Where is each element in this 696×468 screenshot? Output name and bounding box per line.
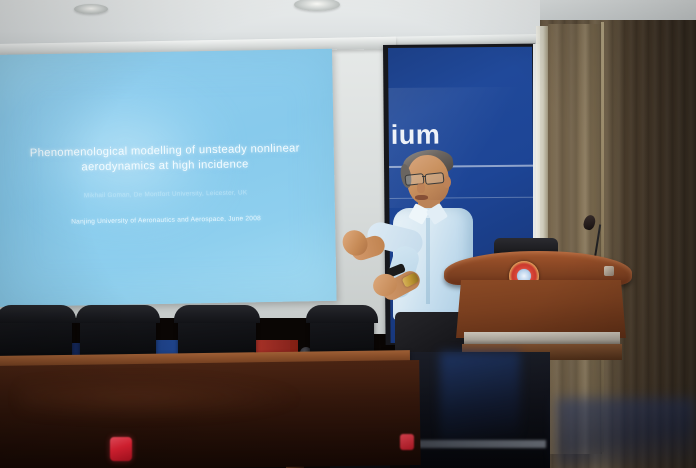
wood-panel-seam	[601, 22, 604, 452]
chair-rim	[306, 305, 378, 323]
slide-author: Mikhail Goman, De Montfort University, L…	[5, 188, 327, 201]
slide-title-line-1: Phenomenological modelling of unsteady n…	[30, 142, 300, 159]
slide-title: Phenomenological modelling of unsteady n…	[4, 141, 326, 176]
presentation-photo: Phenomenological modelling of unsteady n…	[0, 0, 696, 468]
podium-body	[456, 280, 626, 338]
red-bottle-cap	[110, 437, 132, 461]
chair-rim	[76, 305, 160, 323]
glasses-icon	[405, 174, 449, 183]
table-sheen	[20, 378, 300, 418]
chair-rim	[174, 305, 260, 323]
chair	[0, 306, 72, 362]
foreground-blue-reflection-right	[556, 398, 696, 468]
shirt-placket	[426, 218, 430, 304]
foreground-blue-reflection	[440, 352, 520, 442]
banner-word: ium	[391, 119, 535, 151]
glasses-lens-right	[424, 172, 444, 185]
ceiling-downlight-icon	[74, 4, 108, 14]
slide-title-line-2: aerodynamics at high incidence	[81, 158, 248, 173]
red-bottle-cap-secondary	[400, 434, 414, 450]
chair-rim	[0, 305, 76, 323]
glasses-bridge	[422, 176, 426, 177]
slide-venue: Nanjing University of Aeronautics and Ae…	[5, 214, 327, 227]
speaker-nose	[417, 183, 425, 193]
podium-badge-icon	[604, 266, 614, 276]
projection-screen: Phenomenological modelling of unsteady n…	[0, 49, 337, 307]
